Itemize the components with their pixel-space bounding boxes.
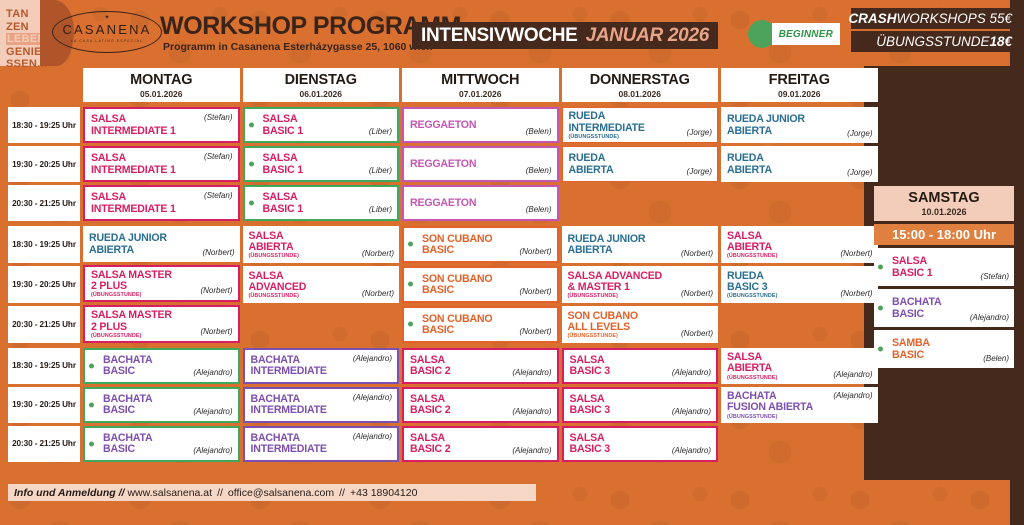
time-slot-20-30-21-25-uhr: 20:30 - 21:25 Uhr — [8, 306, 80, 343]
class-teacher: (Norbert) — [362, 289, 394, 298]
saturday-day-name: SAMSTAG — [874, 190, 1014, 206]
class-teacher: (Jorge) — [847, 129, 872, 138]
class-teacher: (Alejandro) — [672, 368, 711, 377]
beginner-dot-icon — [878, 306, 883, 311]
schedule-grid: MONTAG 05.01.2026 DIENSTAG 06.01.2026 MI… — [8, 68, 864, 462]
class-teacher: (Norbert) — [519, 247, 551, 256]
footer-label: Info und Anmeldung // — [14, 487, 124, 499]
day-column-dienstag: BACHATAINTERMEDIATE(Alejandro)BACHATAINT… — [243, 348, 400, 462]
day-date: 05.01.2026 — [83, 89, 240, 99]
class-cell-salsa-abierta[interactable]: SALSAABIERTA(ÜBUNGSSTUNDE)(Alejandro) — [721, 348, 878, 384]
class-teacher: (Belen) — [526, 166, 552, 175]
class-cell-bachata-fusion-abierta[interactable]: BACHATAFUSION ABIERTA(ÜBUNGSSTUNDE)(Alej… — [721, 387, 878, 423]
time-column: 18:30 - 19:25 Uhr19:30 - 20:25 Uhr20:30 … — [8, 226, 80, 343]
empty-slot — [721, 185, 878, 221]
class-cell-salsa-abierta[interactable]: SALSAABIERTA(ÜBUNGSSTUNDE)(Norbert) — [721, 226, 878, 263]
class-cell-rueda-junior-abierta[interactable]: RUEDA JUNIORABIERTA(Norbert) — [83, 226, 240, 262]
casanena-logo: ✦ CASANENA LA CASA LATINO ESPECIAL — [52, 11, 162, 53]
class-cell-rueda-junior-abierta[interactable]: RUEDA JUNIORABIERTA(Norbert) — [562, 226, 719, 263]
footer-phone[interactable]: +43 18904120 — [350, 487, 417, 499]
saturday-panel: SAMSTAG 10.01.2026 15:00 - 18:00 Uhr SAL… — [874, 186, 1014, 368]
day-column-montag: SALSAINTERMEDIATE 1(Stefan)SALSAINTERMED… — [83, 107, 240, 221]
day-header-montag: MONTAG 05.01.2026 — [83, 68, 240, 102]
day-column-freitag: SALSAABIERTA(ÜBUNGSSTUNDE)(Norbert)RUEDA… — [721, 226, 878, 343]
footer-separator-1: // — [217, 487, 223, 499]
time-slot-18-30-19-25-uhr: 18:30 - 19:25 Uhr — [8, 226, 80, 263]
class-teacher: (Jorge) — [847, 168, 872, 177]
price-crashworkshops: CRASHWORKSHOPS 55€ — [851, 8, 1019, 29]
class-cell-salsa-abierta[interactable]: SALSAABIERTA(ÜBUNGSSTUNDE)(Norbert) — [243, 226, 400, 263]
class-teacher: (Alejandro) — [193, 407, 232, 416]
beginner-dot-icon — [89, 402, 94, 407]
class-cell-salsa-basic-2[interactable]: SALSABASIC 2(Alejandro) — [402, 387, 559, 423]
class-teacher: (Alejandro) — [970, 313, 1009, 322]
schedule-block-3: 18:30 - 19:25 Uhr19:30 - 20:25 Uhr20:30 … — [8, 348, 864, 462]
day-column-mittwoch: SON CUBANOBASIC(Norbert)SON CUBANOBASIC(… — [402, 226, 559, 343]
class-cell-salsa-basic-1[interactable]: SALSABASIC 1(Liber) — [243, 146, 400, 182]
day-column-donnerstag: RUEDA JUNIORABIERTA(Norbert)SALSA ADVANC… — [562, 226, 719, 343]
time-column: 18:30 - 19:25 Uhr19:30 - 20:25 Uhr20:30 … — [8, 348, 80, 462]
time-slot-19-30-20-25-uhr: 19:30 - 20:25 Uhr — [8, 266, 80, 303]
class-teacher: (Norbert) — [840, 289, 872, 298]
class-cell-bachata-intermediate[interactable]: BACHATAINTERMEDIATE(Alejandro) — [243, 387, 400, 423]
class-teacher: (Jorge) — [687, 128, 712, 137]
beginner-label: BEGINNER — [779, 29, 833, 40]
class-teacher: (Norbert) — [681, 249, 713, 258]
class-teacher: (Norbert) — [519, 327, 551, 336]
logo-name: CASANENA — [62, 22, 151, 37]
time-slot-20-30-21-25-uhr: 20:30 - 21:25 Uhr — [8, 426, 80, 462]
class-teacher: (Belen) — [983, 354, 1009, 363]
day-column-montag: RUEDA JUNIORABIERTA(Norbert)SALSA MASTER… — [83, 226, 240, 343]
class-cell-salsa-advanced[interactable]: SALSAADVANCED(ÜBUNGSSTUNDE)(Norbert) — [243, 266, 400, 303]
class-teacher: (Stefan) — [204, 191, 232, 200]
class-teacher: (Norbert) — [681, 329, 713, 338]
class-cell-rueda-abierta[interactable]: RUEDAABIERTA(Jorge) — [721, 146, 878, 182]
class-cell-bachata-basic[interactable]: BACHATABASIC(Alejandro) — [83, 426, 240, 462]
day-date: 07.01.2026 — [402, 89, 559, 99]
empty-slot — [721, 306, 878, 343]
day-column-freitag: SALSAABIERTA(ÜBUNGSSTUNDE)(Alejandro)BAC… — [721, 348, 878, 462]
beginner-dot-icon — [878, 347, 883, 352]
class-cell-salsa-basic-2[interactable]: SALSABASIC 2(Alejandro) — [402, 348, 559, 384]
empty-slot — [562, 185, 719, 221]
class-cell-salsa-basic-3[interactable]: SALSABASIC 3(Alejandro) — [562, 348, 719, 384]
price-crash-prefix: CRASH — [848, 11, 896, 26]
class-teacher: (Norbert) — [200, 286, 232, 295]
header: TAN ZEN LEBEN GENIE SSEN... ✦ CASANENA L… — [0, 0, 1024, 66]
saturday-date: 10.01.2026 — [874, 207, 1014, 217]
class-teacher: (Alejandro) — [672, 446, 711, 455]
class-teacher: (Alejandro) — [353, 354, 392, 363]
class-teacher: (Alejandro) — [512, 368, 551, 377]
class-teacher: (Alejandro) — [193, 446, 232, 455]
class-cell-salsa-master-2-plus[interactable]: SALSA MASTER2 PLUS(ÜBUNGSSTUNDE)(Norbert… — [83, 265, 240, 302]
beginner-dot-icon — [408, 242, 413, 247]
beginner-dot-icon — [249, 123, 254, 128]
beginner-legend: BEGINNER — [772, 23, 840, 45]
beginner-dot-icon — [878, 265, 883, 270]
class-cell-salsa-basic-2[interactable]: SALSABASIC 2(Alejandro) — [402, 426, 559, 462]
class-teacher: (Alejandro) — [353, 432, 392, 441]
class-teacher: (Liber) — [369, 205, 392, 214]
day-column-freitag: RUEDA JUNIORABIERTA(Jorge)RUEDAABIERTA(J… — [721, 107, 878, 221]
class-teacher: (Norbert) — [202, 248, 234, 257]
price-uebung-rest: ÜBUNGSSTUNDE — [876, 34, 989, 49]
schedule-block-2: 18:30 - 19:25 Uhr19:30 - 20:25 Uhr20:30 … — [8, 226, 864, 343]
time-slot-18-30-19-25-uhr: 18:30 - 19:25 Uhr — [8, 348, 80, 384]
day-name: MONTAG — [83, 72, 240, 88]
class-cell-rueda-basic-3[interactable]: RUEDABASIC 3(ÜBUNGSSTUNDE)(Norbert) — [721, 266, 878, 303]
day-column-donnerstag: RUEDAINTERMEDIATE(ÜBUNGSSTUNDE)(Jorge)RU… — [562, 107, 719, 221]
time-slot-19-30-20-25-uhr: 19:30 - 20:25 Uhr — [8, 146, 80, 182]
day-date: 06.01.2026 — [243, 89, 400, 99]
class-cell-salsa-intermediate-1[interactable]: SALSAINTERMEDIATE 1(Stefan) — [83, 185, 240, 221]
class-teacher: (Liber) — [369, 166, 392, 175]
class-cell-salsa-basic-1[interactable]: SALSABASIC 1(Liber) — [243, 107, 400, 143]
class-cell-bachata-basic[interactable]: BACHATABASIC(Alejandro) — [83, 348, 240, 384]
logo-star-icon: ✦ — [104, 14, 109, 21]
time-slot-18-30-19-25-uhr: 18:30 - 19:25 Uhr — [8, 107, 80, 143]
class-teacher: (Stefan) — [204, 152, 232, 161]
day-column-dienstag: SALSABASIC 1(Liber)SALSABASIC 1(Liber)SA… — [243, 107, 400, 221]
page-subtitle: Programm in Casanena Esterházygasse 25, … — [163, 41, 433, 53]
class-teacher: (Stefan) — [204, 113, 232, 122]
class-cell-son-cubano-basic[interactable]: SON CUBANOBASIC(Norbert) — [402, 266, 559, 303]
class-teacher: (Alejandro) — [833, 370, 872, 379]
class-cell-son-cubano-basic[interactable]: SON CUBANOBASIC(Norbert) — [402, 306, 559, 343]
day-name: DONNERSTAG — [562, 72, 719, 88]
empty-slot — [243, 306, 400, 343]
class-teacher: (Stefan) — [981, 272, 1009, 281]
beginner-dot-icon — [249, 162, 254, 167]
day-column-mittwoch: SALSABASIC 2(Alejandro)SALSABASIC 2(Alej… — [402, 348, 559, 462]
class-cell-salsa-basic-1[interactable]: SALSABASIC 1(Liber) — [243, 185, 400, 221]
class-cell-son-cubano-all-levels[interactable]: SON CUBANOALL LEVELS(ÜBUNGSSTUNDE)(Norbe… — [562, 306, 719, 343]
class-cell-reggaeton[interactable]: REGGAETON(Belen) — [402, 146, 559, 182]
class-teacher: (Norbert) — [840, 249, 872, 258]
week-badge: INTENSIVWOCHE JANUAR 2026 — [412, 22, 718, 49]
time-column-header — [8, 68, 80, 102]
price-uebungsstunde: ÜBUNGSSTUNDE 18€ — [851, 31, 1019, 52]
class-teacher: (Alejandro) — [833, 391, 872, 400]
class-cell-salsa-basic-1[interactable]: SALSABASIC 1(Stefan) — [874, 248, 1014, 286]
day-name: FREITAG — [721, 72, 878, 88]
class-teacher: (Alejandro) — [512, 407, 551, 416]
day-column-donnerstag: SALSABASIC 3(Alejandro)SALSABASIC 3(Alej… — [562, 348, 719, 462]
saturday-header: SAMSTAG 10.01.2026 — [874, 186, 1014, 221]
class-teacher: (Norbert) — [519, 287, 551, 296]
class-cell-bachata-basic[interactable]: BACHATABASIC(Alejandro) — [83, 387, 240, 423]
day-column-montag: BACHATABASIC(Alejandro)BACHATABASIC(Alej… — [83, 348, 240, 462]
day-column-dienstag: SALSAABIERTA(ÜBUNGSSTUNDE)(Norbert)SALSA… — [243, 226, 400, 343]
day-name: MITTWOCH — [402, 72, 559, 88]
beginner-dot-icon — [249, 201, 254, 206]
class-cell-salsa-basic-3[interactable]: SALSABASIC 3(Alejandro) — [562, 387, 719, 423]
price-crash-rest: WORKSHOPS 55€ — [896, 11, 1012, 26]
footer-website[interactable]: www.salsanena.at — [127, 487, 212, 499]
price-uebung-amount: 18€ — [989, 34, 1012, 49]
class-teacher: (Alejandro) — [353, 393, 392, 402]
class-cell-rueda-junior-abierta[interactable]: RUEDA JUNIORABIERTA(Jorge) — [721, 107, 878, 143]
class-cell-salsa-basic-3[interactable]: SALSABASIC 3(Alejandro) — [562, 426, 719, 462]
saturday-class-list: SALSABASIC 1(Stefan)BACHATABASIC(Alejand… — [874, 248, 1014, 368]
class-teacher: (Belen) — [526, 205, 552, 214]
beginner-dot-icon — [408, 322, 413, 327]
day-date: 09.01.2026 — [721, 89, 878, 99]
day-name: DIENSTAG — [243, 72, 400, 88]
day-column-mittwoch: REGGAETON(Belen)REGGAETON(Belen)REGGAETO… — [402, 107, 559, 221]
beginner-dot-icon — [89, 441, 94, 446]
class-cell-salsa-intermediate-1[interactable]: SALSAINTERMEDIATE 1(Stefan) — [83, 146, 240, 182]
footer-separator-2: // — [339, 487, 345, 499]
uebungsstunde-label: (ÜBUNGSSTUNDE) — [727, 414, 873, 420]
time-column: 18:30 - 19:25 Uhr19:30 - 20:25 Uhr20:30 … — [8, 107, 80, 221]
month-label: JANUAR 2026 — [586, 25, 709, 47]
class-cell-bachata-intermediate[interactable]: BACHATAINTERMEDIATE(Alejandro) — [243, 348, 400, 384]
day-header-dienstag: DIENSTAG 06.01.2026 — [243, 68, 400, 102]
day-header-row: MONTAG 05.01.2026 DIENSTAG 06.01.2026 MI… — [8, 68, 864, 102]
logo-subtitle: LA CASA LATINO ESPECIAL — [71, 39, 143, 43]
class-cell-son-cubano-basic[interactable]: SON CUBANOBASIC(Norbert) — [402, 226, 559, 263]
day-header-donnerstag: DONNERSTAG 08.01.2026 — [562, 68, 719, 102]
class-cell-rueda-intermediate[interactable]: RUEDAINTERMEDIATE(ÜBUNGSSTUNDE)(Jorge) — [562, 107, 719, 143]
week-label: INTENSIVWOCHE — [421, 25, 578, 47]
class-cell-samba-basic[interactable]: SAMBABASIC(Belen) — [874, 330, 1014, 368]
day-header-freitag: FREITAG 09.01.2026 — [721, 68, 878, 102]
class-teacher: (Alejandro) — [672, 407, 711, 416]
time-slot-19-30-20-25-uhr: 19:30 - 20:25 Uhr — [8, 387, 80, 423]
class-cell-salsa-master-2-plus[interactable]: SALSA MASTER2 PLUS(ÜBUNGSSTUNDE)(Norbert… — [83, 305, 240, 342]
time-slot-20-30-21-25-uhr: 20:30 - 21:25 Uhr — [8, 185, 80, 221]
saturday-time: 15:00 - 18:00 Uhr — [874, 224, 1014, 245]
day-header-mittwoch: MITTWOCH 07.01.2026 — [402, 68, 559, 102]
schedule-block-1: 18:30 - 19:25 Uhr19:30 - 20:25 Uhr20:30 … — [8, 107, 864, 221]
class-teacher: (Alejandro) — [512, 446, 551, 455]
class-cell-reggaeton[interactable]: REGGAETON(Belen) — [402, 185, 559, 221]
class-cell-rueda-abierta[interactable]: RUEDAABIERTA(Jorge) — [562, 146, 719, 182]
empty-slot — [721, 426, 878, 462]
day-date: 08.01.2026 — [562, 89, 719, 99]
class-cell-salsa-intermediate-1[interactable]: SALSAINTERMEDIATE 1(Stefan) — [83, 107, 240, 143]
footer-email[interactable]: office@salsanena.com — [228, 487, 334, 499]
class-teacher: (Alejandro) — [193, 368, 232, 377]
beginner-dot-icon — [408, 282, 413, 287]
class-cell-bachata-basic[interactable]: BACHATABASIC(Alejandro) — [874, 289, 1014, 327]
class-teacher: (Liber) — [369, 127, 392, 136]
class-cell-salsa-advanced-master-1[interactable]: SALSA ADVANCED& MASTER 1(ÜBUNGSSTUNDE)(N… — [562, 266, 719, 303]
footer-contact: Info und Anmeldung // www.salsanena.at /… — [8, 484, 536, 501]
schedule-blocks: 18:30 - 19:25 Uhr19:30 - 20:25 Uhr20:30 … — [8, 107, 864, 462]
class-teacher: (Norbert) — [200, 327, 232, 336]
class-teacher: (Norbert) — [681, 289, 713, 298]
beginner-dot-icon — [89, 363, 94, 368]
class-teacher: (Norbert) — [362, 249, 394, 258]
class-teacher: (Jorge) — [687, 167, 712, 176]
class-teacher: (Belen) — [526, 127, 552, 136]
class-cell-bachata-intermediate[interactable]: BACHATAINTERMEDIATE(Alejandro) — [243, 426, 400, 462]
class-cell-reggaeton[interactable]: REGGAETON(Belen) — [402, 107, 559, 143]
